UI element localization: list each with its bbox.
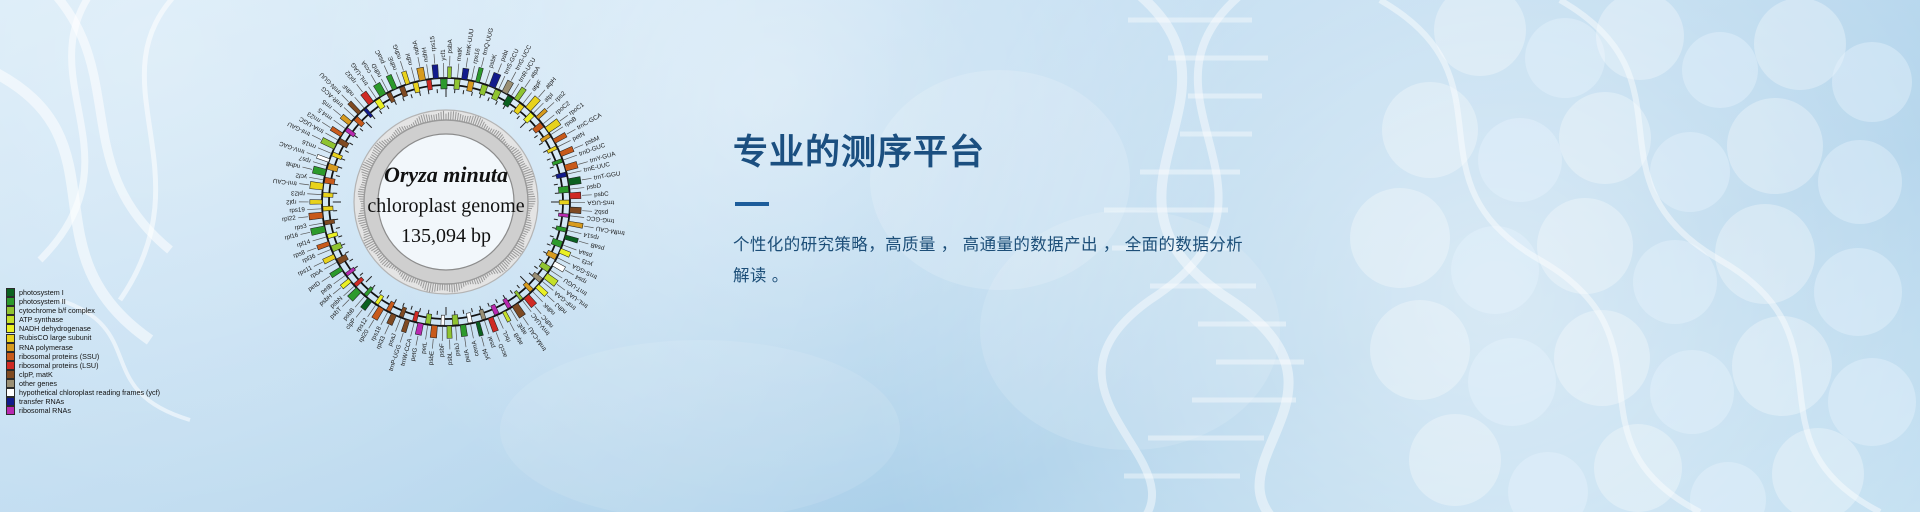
gc-content-tick bbox=[439, 113, 440, 120]
genome-ruler-tick bbox=[471, 308, 472, 312]
genome-ruler-tick bbox=[354, 135, 357, 137]
legend-row: RNA polymerase bbox=[6, 343, 160, 352]
genome-ruler-tick bbox=[366, 122, 372, 128]
genome-feature-block bbox=[556, 226, 567, 232]
gene-label-leader bbox=[565, 270, 574, 275]
genome-ruler-tick bbox=[463, 90, 464, 94]
legend-row: photosystem I bbox=[6, 288, 160, 297]
gene-label: rbcL bbox=[501, 329, 513, 343]
gene-label: psbF bbox=[438, 343, 445, 357]
genome-feature-block bbox=[310, 181, 324, 189]
legend-label: photosystem I bbox=[19, 288, 64, 297]
legend-color-swatch bbox=[6, 297, 15, 306]
gene-label-leader bbox=[369, 320, 374, 328]
genome-ruler-tick bbox=[496, 299, 498, 303]
gene-label: psbK bbox=[488, 53, 499, 69]
legend-row: clpP, matK bbox=[6, 370, 160, 379]
legend-label: ribosomal proteins (LSU) bbox=[19, 361, 99, 370]
genome-feature-block bbox=[462, 68, 469, 80]
genome-feature-block bbox=[476, 67, 484, 82]
genome-feature-block bbox=[523, 282, 533, 292]
genome-feature-block bbox=[568, 177, 581, 186]
gene-label-leader bbox=[582, 211, 592, 212]
genome-feature-block bbox=[558, 213, 568, 217]
gene-label: rps14 bbox=[582, 231, 599, 241]
genome-ruler-tick bbox=[387, 295, 389, 298]
genome-ruler-tick bbox=[554, 184, 558, 185]
genome-feature-block bbox=[570, 192, 581, 199]
gene-label-leader bbox=[525, 79, 531, 87]
gene-label: psbA bbox=[447, 38, 454, 53]
gene-label-leader bbox=[318, 148, 331, 154]
gene-label-leader bbox=[574, 145, 583, 149]
genome-feature-block bbox=[514, 87, 526, 101]
gene-label-leader bbox=[510, 322, 515, 331]
gene-label-leader bbox=[395, 318, 400, 331]
legend-row: ATP synthase bbox=[6, 315, 160, 324]
legend-label: photosystem II bbox=[19, 297, 66, 306]
legend-row: ribosomal RNAs bbox=[6, 406, 160, 415]
genome-feature-block bbox=[447, 326, 452, 338]
legend-row: hypothetical chloroplast reading frames … bbox=[6, 388, 160, 397]
gene-label-leader bbox=[312, 135, 321, 139]
genome-ruler-tick bbox=[336, 176, 340, 177]
legend-color-swatch bbox=[6, 397, 15, 406]
genome-feature-block bbox=[479, 84, 488, 95]
genome-ruler-tick bbox=[403, 303, 405, 307]
genome-feature-block bbox=[361, 298, 372, 310]
legend-label: RubisCO large subunit bbox=[19, 333, 91, 342]
legend-color-swatch bbox=[6, 370, 15, 379]
gene-label-leader bbox=[385, 325, 389, 334]
gene-label: cemA bbox=[470, 339, 480, 357]
legend-label: cytochrome b/f complex bbox=[19, 306, 95, 315]
legend-row: cytochrome b/f complex bbox=[6, 306, 160, 315]
genome-feature-block bbox=[323, 254, 336, 264]
genome-feature-block bbox=[479, 309, 486, 320]
gene-label-leader bbox=[309, 223, 323, 225]
genome-ruler-tick bbox=[379, 110, 381, 113]
gene-label-leader bbox=[568, 171, 582, 174]
genome-ruler-tick bbox=[552, 227, 556, 228]
gene-label-leader bbox=[302, 167, 312, 169]
genome-feature-block bbox=[316, 154, 329, 162]
center-molecule: chloroplast genome bbox=[367, 195, 524, 217]
genome-ruler-tick bbox=[510, 110, 512, 113]
genome-ruler-tick bbox=[428, 310, 429, 314]
chloroplast-genome-map: psbAmatKtrnK-UUUrps16trnQ-UUGpsbKpsbItrn… bbox=[246, 4, 646, 408]
genome-map-legend: photosystem Iphotosystem IIcytochrome b/… bbox=[6, 288, 160, 415]
genome-ruler-tick bbox=[336, 227, 340, 228]
gene-label-leader bbox=[307, 194, 321, 195]
genome-feature-block bbox=[559, 248, 571, 257]
genome-feature-block bbox=[340, 279, 351, 289]
genome-ruler-tick bbox=[366, 276, 372, 282]
gene-label-leader bbox=[418, 57, 420, 67]
gene-label: ndhI bbox=[404, 52, 414, 66]
genome-ruler-tick bbox=[552, 176, 556, 177]
gene-label-leader bbox=[568, 230, 582, 233]
genome-ruler-tick bbox=[463, 310, 464, 314]
gene-label: trnT-GGU bbox=[593, 170, 621, 181]
gene-label-leader bbox=[357, 84, 363, 92]
genome-feature-block bbox=[432, 65, 439, 79]
genome-ruler-tick bbox=[529, 128, 532, 131]
gene-label-leader bbox=[298, 217, 308, 218]
gene-label-leader bbox=[333, 288, 341, 294]
genome-feature-block bbox=[401, 319, 409, 333]
hero-subcopy: 个性化的研究策略，高质量 ， 高通量的数据产出 ， 全面的数据分析解读 。 bbox=[733, 230, 1249, 292]
genome-ruler-tick bbox=[550, 236, 554, 237]
title-divider bbox=[735, 202, 769, 206]
genome-feature-block bbox=[488, 317, 498, 332]
gene-label-leader bbox=[571, 255, 580, 259]
genome-feature-block bbox=[502, 80, 513, 94]
genome-ruler-tick bbox=[334, 184, 338, 185]
gene-label: psaB bbox=[590, 241, 606, 252]
legend-label: other genes bbox=[19, 379, 57, 388]
gene-label-leader bbox=[511, 72, 516, 81]
genome-feature-block bbox=[570, 207, 582, 214]
legend-color-swatch bbox=[6, 306, 15, 315]
gene-label: rpl23 bbox=[290, 189, 305, 197]
legend-color-swatch bbox=[6, 288, 15, 297]
genome-feature-block bbox=[330, 126, 343, 136]
genome-ruler-tick bbox=[420, 308, 421, 312]
genome-map-svg: psbAmatKtrnK-UUUrps16trnQ-UUGpsbKpsbItrn… bbox=[246, 4, 646, 408]
gene-label: matK bbox=[456, 46, 464, 62]
gene-label-leader bbox=[322, 276, 330, 281]
page-title: 专业的测序平台 bbox=[733, 132, 1293, 174]
gene-label-leader bbox=[334, 120, 345, 128]
gene-label-leader bbox=[567, 129, 576, 134]
genome-ruler-tick bbox=[428, 90, 429, 94]
genome-feature-block bbox=[321, 137, 337, 149]
gene-label-leader bbox=[307, 209, 321, 210]
gene-label: rps16 bbox=[472, 47, 482, 64]
legend-row: ribosomal proteins (LSU) bbox=[6, 361, 160, 370]
hero-banner: psbAmatKtrnK-UUUrps16trnQ-UUGpsbKpsbItrn… bbox=[0, 0, 1920, 512]
gene-label: rpl2 bbox=[286, 198, 297, 205]
genome-feature-block bbox=[426, 80, 432, 91]
genome-feature-block bbox=[340, 114, 352, 125]
genome-ruler-tick bbox=[345, 252, 349, 254]
genome-feature-block bbox=[551, 238, 563, 247]
gene-label: psbC bbox=[594, 191, 609, 199]
genome-feature-block bbox=[559, 200, 569, 205]
genome-feature-block bbox=[553, 132, 567, 143]
gc-content-tick bbox=[358, 194, 364, 195]
genome-ruler-tick bbox=[411, 306, 412, 310]
legend-color-swatch bbox=[6, 315, 15, 324]
gene-label-leader bbox=[300, 232, 310, 234]
gene-label-leader bbox=[466, 58, 467, 68]
gene-label-leader bbox=[299, 184, 309, 185]
legend-color-swatch bbox=[6, 406, 15, 415]
legend-label: clpP, matK bbox=[19, 370, 53, 379]
gene-label-leader bbox=[384, 65, 388, 74]
genome-ruler-tick bbox=[338, 167, 342, 168]
legend-color-swatch bbox=[6, 379, 15, 388]
genome-feature-block bbox=[310, 200, 322, 205]
genome-ruler-tick bbox=[360, 128, 363, 131]
gene-label: atpF bbox=[530, 79, 543, 93]
genome-ruler-tick bbox=[341, 244, 345, 246]
gene-label-leader bbox=[570, 188, 584, 189]
gene-label: ndhF bbox=[341, 82, 356, 97]
gene-label-leader bbox=[498, 63, 502, 72]
gene-label: rps15 bbox=[429, 35, 437, 52]
genome-ruler-tick bbox=[471, 92, 472, 96]
gene-label: trnG-GCC bbox=[586, 214, 615, 224]
genome-ruler-tick bbox=[534, 135, 537, 137]
gene-label-leader bbox=[432, 339, 433, 349]
genome-feature-block bbox=[430, 325, 437, 338]
gene-label-leader bbox=[465, 337, 466, 347]
genome-ruler-tick bbox=[395, 299, 397, 303]
gene-label-leader bbox=[356, 310, 362, 318]
genome-ruler-tick bbox=[517, 285, 520, 288]
gene-label: rpl16 bbox=[284, 232, 299, 242]
genome-ruler-tick bbox=[372, 285, 375, 288]
genome-feature-block bbox=[552, 261, 565, 272]
gene-label: rpl22 bbox=[282, 215, 297, 223]
legend-label: RNA polymerase bbox=[19, 343, 73, 352]
gene-label: ycf1 bbox=[440, 49, 447, 61]
gene-label: trnC-GCA bbox=[576, 111, 604, 131]
gene-label-leader bbox=[582, 178, 592, 180]
gene-label-leader bbox=[584, 226, 594, 228]
gene-label-leader bbox=[458, 64, 459, 78]
legend-label: ATP synthase bbox=[19, 315, 63, 324]
genome-ruler-tick bbox=[503, 105, 505, 108]
genome-ruler-tick bbox=[354, 266, 357, 268]
gene-label: psbE bbox=[427, 351, 435, 366]
gc-content-tick bbox=[452, 284, 453, 293]
legend-label: ribosomal proteins (SSU) bbox=[19, 352, 99, 361]
genome-ruler-tick bbox=[372, 116, 375, 119]
genome-ruler-tick bbox=[480, 306, 481, 310]
gene-label-leader bbox=[485, 70, 489, 83]
genome-feature-block bbox=[361, 91, 374, 105]
gene-label-leader bbox=[485, 321, 489, 335]
legend-color-swatch bbox=[6, 334, 15, 343]
genome-feature-block bbox=[559, 146, 574, 156]
gene-label: ndhD bbox=[370, 62, 383, 79]
legend-row: transfer RNAs bbox=[6, 397, 160, 406]
genome-feature-block bbox=[558, 186, 569, 193]
legend-row: photosystem II bbox=[6, 297, 160, 306]
genome-feature-block bbox=[312, 166, 326, 176]
genome-ruler-tick bbox=[503, 295, 505, 298]
center-organism: Oryza minuta bbox=[384, 162, 508, 187]
gene-label: atpH bbox=[544, 76, 558, 90]
gene-label-leader bbox=[333, 109, 341, 115]
gene-label: trnfM-CAU bbox=[595, 225, 625, 237]
genome-feature-block bbox=[441, 315, 445, 325]
genome-ruler-tick bbox=[550, 167, 554, 168]
genome-ruler-tick bbox=[534, 266, 537, 268]
genome-feature-block bbox=[354, 277, 364, 287]
genome-feature-block bbox=[317, 241, 330, 250]
genome-feature-block bbox=[467, 81, 474, 92]
gene-label: ndhH bbox=[421, 47, 430, 63]
hero-copy-block: 专业的测序平台 个性化的研究策略，高质量 ， 高通量的数据产出 ， 全面的数据分… bbox=[733, 132, 1293, 292]
gene-label-leader bbox=[411, 67, 415, 81]
genome-feature-block bbox=[330, 267, 343, 278]
gene-label: accD bbox=[497, 342, 509, 358]
legend-label: NADH dehydrogenase bbox=[19, 324, 91, 333]
genome-feature-block bbox=[535, 284, 548, 296]
gene-label-leader bbox=[314, 262, 323, 266]
gene-label-leader bbox=[578, 162, 587, 165]
gene-label: ndhA bbox=[411, 39, 421, 55]
genome-ruler-tick bbox=[345, 151, 349, 153]
genome-ruler-tick bbox=[539, 143, 542, 145]
genome-feature-block bbox=[526, 96, 541, 111]
genome-feature-block bbox=[454, 79, 460, 89]
genome-feature-block bbox=[545, 119, 561, 133]
gene-label: rps19 bbox=[289, 206, 305, 214]
gene-label-leader bbox=[434, 54, 435, 64]
gene-label: rpl14 bbox=[296, 238, 312, 249]
genome-ruler-tick bbox=[529, 273, 532, 276]
gene-label-leader bbox=[426, 325, 428, 339]
gene-label-leader bbox=[456, 326, 457, 340]
gene-label: psbL bbox=[447, 351, 454, 365]
genome-feature-block bbox=[311, 226, 326, 236]
gene-label-leader bbox=[427, 64, 429, 78]
gene-label-leader bbox=[307, 153, 316, 156]
genome-ruler-tick bbox=[387, 105, 389, 108]
gene-label-leader bbox=[570, 216, 584, 218]
gene-label-leader bbox=[547, 295, 554, 302]
genome-ruler-tick bbox=[480, 94, 481, 98]
genome-feature-block bbox=[536, 108, 547, 119]
gene-label-leader bbox=[558, 258, 571, 264]
genome-feature-block bbox=[417, 67, 426, 81]
genome-ruler-tick bbox=[510, 290, 512, 293]
legend-color-swatch bbox=[6, 352, 15, 361]
genome-feature-block bbox=[452, 315, 459, 325]
genome-ruler-tick bbox=[547, 159, 551, 161]
gene-label-leader bbox=[472, 66, 475, 80]
gene-label-leader bbox=[497, 316, 503, 329]
genome-feature-block bbox=[324, 219, 335, 225]
genome-ruler-tick bbox=[547, 244, 551, 246]
genome-ruler-tick bbox=[360, 273, 363, 276]
gene-label: rps3 bbox=[294, 223, 308, 232]
gene-label: ycf4 bbox=[481, 347, 491, 360]
gene-label: trnI-CAU bbox=[273, 177, 298, 187]
genome-feature-block bbox=[413, 311, 419, 322]
genome-feature-block bbox=[324, 177, 335, 184]
legend-row: NADH dehydrogenase bbox=[6, 324, 160, 333]
genome-feature-block bbox=[476, 321, 484, 336]
center-length: 135,094 bp bbox=[401, 225, 491, 247]
gene-label-leader bbox=[496, 332, 500, 341]
gene-label-leader bbox=[564, 155, 577, 160]
legend-color-swatch bbox=[6, 343, 15, 352]
gene-label-leader bbox=[313, 162, 327, 166]
genome-ruler-tick bbox=[411, 94, 412, 98]
genome-feature-block bbox=[448, 67, 452, 78]
genome-ruler-tick bbox=[539, 259, 542, 261]
legend-label: hypothetical chloroplast reading frames … bbox=[19, 388, 160, 397]
genome-feature-block bbox=[425, 314, 431, 325]
legend-row: other genes bbox=[6, 379, 160, 388]
legend-color-swatch bbox=[6, 388, 15, 397]
gene-label-leader bbox=[313, 237, 327, 241]
gc-content-tick bbox=[528, 194, 534, 195]
legend-color-swatch bbox=[6, 361, 15, 370]
gene-label-leader bbox=[309, 177, 323, 180]
gene-label-leader bbox=[416, 336, 418, 346]
genome-feature-block bbox=[489, 72, 501, 88]
gene-label: psbD bbox=[586, 182, 602, 191]
gene-label-leader bbox=[563, 245, 576, 250]
genome-ruler-tick bbox=[543, 151, 547, 153]
genome-ruler-tick bbox=[543, 252, 547, 254]
genome-ruler-tick bbox=[334, 219, 338, 220]
genome-ruler-tick bbox=[517, 116, 520, 119]
genome-feature-block bbox=[503, 311, 511, 322]
genome-feature-block bbox=[415, 323, 423, 336]
genome-feature-block bbox=[323, 192, 333, 197]
genome-ruler-tick bbox=[349, 143, 352, 145]
genome-feature-block bbox=[564, 235, 578, 243]
gc-content-tick bbox=[527, 192, 533, 193]
genome-ruler-tick bbox=[338, 236, 342, 237]
legend-row: ribosomal proteins (SSU) bbox=[6, 352, 160, 361]
genome-ruler-tick bbox=[349, 259, 352, 261]
genome-feature-block bbox=[564, 161, 578, 171]
gene-label-leader bbox=[482, 337, 485, 346]
gene-label-leader bbox=[317, 250, 330, 255]
genome-ruler-tick bbox=[420, 92, 421, 96]
genome-feature-block bbox=[327, 163, 338, 171]
genome-feature-block bbox=[402, 71, 410, 85]
genome-ruler-tick bbox=[379, 290, 381, 293]
gene-label: trnQ-UUG bbox=[481, 27, 495, 56]
genome-ruler-tick bbox=[488, 303, 490, 307]
genome-ruler-tick bbox=[395, 101, 397, 105]
gene-label-leader bbox=[400, 333, 403, 342]
genome-feature-block bbox=[460, 324, 467, 336]
legend-row: RubisCO large subunit bbox=[6, 333, 160, 342]
gene-label-leader bbox=[411, 323, 415, 337]
legend-label: transfer RNAs bbox=[19, 397, 64, 406]
genome-feature-block bbox=[413, 82, 420, 93]
gene-label-leader bbox=[579, 241, 588, 244]
genome-feature-block bbox=[556, 172, 567, 178]
genome-feature-block bbox=[440, 79, 447, 89]
genome-ruler-tick bbox=[488, 97, 490, 101]
genome-feature-block bbox=[309, 212, 323, 220]
gene-label-leader bbox=[558, 140, 571, 146]
genome-ruler-tick bbox=[520, 276, 526, 282]
genome-feature-block bbox=[387, 313, 397, 325]
gene-label: trnS-UGA bbox=[587, 199, 615, 206]
legend-label: ribosomal RNAs bbox=[19, 406, 71, 415]
genome-feature-block bbox=[466, 313, 472, 324]
gene-label-leader bbox=[481, 57, 483, 66]
genome-feature-block bbox=[327, 232, 338, 239]
gene-label-leader bbox=[400, 61, 403, 70]
gene-label-leader bbox=[396, 72, 401, 85]
gene-label-leader bbox=[471, 324, 474, 338]
genome-feature-block bbox=[399, 86, 407, 97]
